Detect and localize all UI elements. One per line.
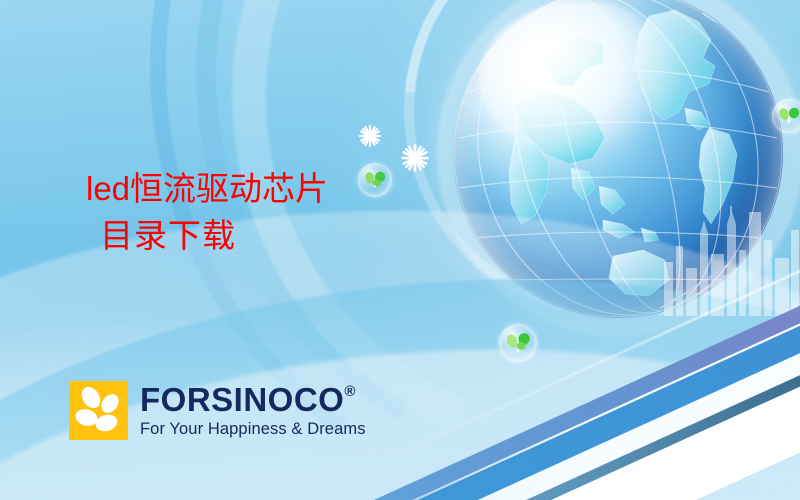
logo-text: FORSINOCO ® For Your Happiness & Dreams [140, 383, 366, 439]
logo-wordmark: FORSINOCO ® [140, 383, 366, 416]
banner-canvas: led恒流驱动芯片 目录下载 FORSINOCO ® For Your Happ… [0, 0, 800, 500]
bubble-sprout-small-top [358, 163, 392, 197]
bubble-sprout-mid [499, 324, 537, 362]
headline-line-2: 目录下载 [100, 213, 328, 260]
sparkle-asterisk-left [358, 124, 382, 148]
headline: led恒流驱动芯片 目录下载 [86, 166, 328, 260]
sparkle-asterisk-right [400, 143, 430, 173]
logo-mark [69, 381, 128, 440]
four-petal-flower-icon [69, 381, 128, 440]
headline-line-1: led恒流驱动芯片 [86, 166, 328, 213]
sprout-icon [358, 163, 392, 197]
registered-trademark-icon: ® [344, 384, 356, 399]
logo-name-text: FORSINOCO [140, 383, 344, 416]
brand-logo: FORSINOCO ® For Your Happiness & Dreams [69, 381, 366, 440]
bubble-sprout-right [772, 99, 800, 133]
sprout-icon [499, 324, 537, 362]
logo-tagline: For Your Happiness & Dreams [140, 420, 366, 439]
sprout-icon [772, 99, 800, 133]
city-skyline-silhouette [660, 206, 800, 316]
